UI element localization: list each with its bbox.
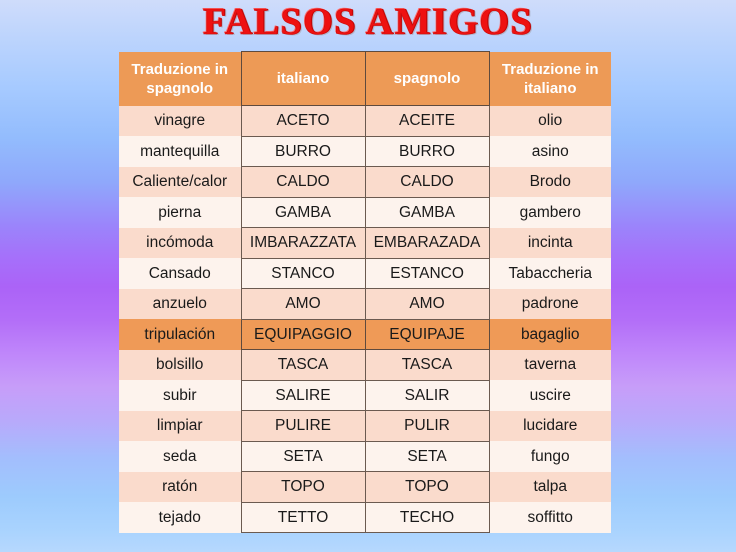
- cell-italiano: BURRO: [241, 136, 365, 167]
- table-row: sedaSETASETAfungo: [119, 441, 611, 472]
- cell-traduzione-spagnolo: Caliente/calor: [119, 167, 241, 198]
- cell-traduzione-spagnolo: tejado: [119, 502, 241, 533]
- cell-traduzione-spagnolo: bolsillo: [119, 350, 241, 381]
- cell-traduzione-italiano: asino: [489, 136, 611, 167]
- cell-italiano: SETA: [241, 441, 365, 472]
- cell-italiano: PULIRE: [241, 411, 365, 442]
- cell-traduzione-italiano: incinta: [489, 228, 611, 259]
- cell-traduzione-spagnolo: pierna: [119, 197, 241, 228]
- table-body: vinagreACETOACEITEoliomantequillaBURROBU…: [119, 106, 611, 533]
- slide-canvas: FALSOS AMIGOS Traduzione in spagnolo ita…: [0, 0, 736, 552]
- cell-spagnolo: CALDO: [365, 167, 489, 198]
- cell-spagnolo: GAMBA: [365, 197, 489, 228]
- table-row: Caliente/calorCALDOCALDOBrodo: [119, 167, 611, 198]
- cell-spagnolo: AMO: [365, 289, 489, 320]
- cell-italiano: IMBARAZZATA: [241, 228, 365, 259]
- cell-italiano: TETTO: [241, 502, 365, 533]
- cell-traduzione-italiano: taverna: [489, 350, 611, 381]
- cell-traduzione-italiano: Tabaccheria: [489, 258, 611, 289]
- cell-traduzione-spagnolo: ratón: [119, 472, 241, 503]
- cell-traduzione-spagnolo: seda: [119, 441, 241, 472]
- cell-spagnolo: TOPO: [365, 472, 489, 503]
- cell-traduzione-italiano: soffitto: [489, 502, 611, 533]
- table-row: vinagreACETOACEITEolio: [119, 106, 611, 137]
- cell-traduzione-italiano: padrone: [489, 289, 611, 320]
- cell-traduzione-spagnolo: incómoda: [119, 228, 241, 259]
- cell-spagnolo: SETA: [365, 441, 489, 472]
- cell-traduzione-italiano: fungo: [489, 441, 611, 472]
- cell-spagnolo: EQUIPAJE: [365, 319, 489, 350]
- cell-spagnolo: EMBARAZADA: [365, 228, 489, 259]
- table-row: anzueloAMOAMOpadrone: [119, 289, 611, 320]
- cell-italiano: EQUIPAGGIO: [241, 319, 365, 350]
- cell-spagnolo: SALIR: [365, 380, 489, 411]
- cell-traduzione-spagnolo: tripulación: [119, 319, 241, 350]
- cell-italiano: GAMBA: [241, 197, 365, 228]
- table-row: bolsilloTASCATASCAtaverna: [119, 350, 611, 381]
- cell-spagnolo: BURRO: [365, 136, 489, 167]
- cell-traduzione-spagnolo: subir: [119, 380, 241, 411]
- cell-traduzione-italiano: olio: [489, 106, 611, 137]
- cell-italiano: ACETO: [241, 106, 365, 137]
- table-row: piernaGAMBAGAMBAgambero: [119, 197, 611, 228]
- column-header-traduzione-italiano: Traduzione in italiano: [489, 52, 611, 106]
- cell-spagnolo: ACEITE: [365, 106, 489, 137]
- cell-traduzione-spagnolo: anzuelo: [119, 289, 241, 320]
- page-title: FALSOS AMIGOS: [203, 2, 533, 42]
- title-container: FALSOS AMIGOS: [0, 2, 736, 42]
- false-friends-table: Traduzione in spagnolo italiano spagnolo…: [119, 51, 611, 533]
- cell-spagnolo: TECHO: [365, 502, 489, 533]
- table-row: subirSALIRESALIRuscire: [119, 380, 611, 411]
- cell-italiano: TASCA: [241, 350, 365, 381]
- table-row: limpiarPULIREPULIRlucidare: [119, 411, 611, 442]
- table-row: CansadoSTANCOESTANCOTabaccheria: [119, 258, 611, 289]
- cell-spagnolo: PULIR: [365, 411, 489, 442]
- cell-traduzione-italiano: bagaglio: [489, 319, 611, 350]
- cell-traduzione-italiano: Brodo: [489, 167, 611, 198]
- table-row: tripulaciónEQUIPAGGIOEQUIPAJEbagaglio: [119, 319, 611, 350]
- cell-traduzione-italiano: talpa: [489, 472, 611, 503]
- cell-italiano: STANCO: [241, 258, 365, 289]
- false-friends-table-container: Traduzione in spagnolo italiano spagnolo…: [119, 51, 611, 533]
- cell-traduzione-spagnolo: Cansado: [119, 258, 241, 289]
- cell-italiano: AMO: [241, 289, 365, 320]
- cell-traduzione-italiano: lucidare: [489, 411, 611, 442]
- table-header-row: Traduzione in spagnolo italiano spagnolo…: [119, 52, 611, 106]
- table-row: mantequillaBURROBURROasino: [119, 136, 611, 167]
- column-header-spagnolo: spagnolo: [365, 52, 489, 106]
- cell-traduzione-spagnolo: vinagre: [119, 106, 241, 137]
- cell-traduzione-italiano: gambero: [489, 197, 611, 228]
- cell-italiano: SALIRE: [241, 380, 365, 411]
- column-header-italiano: italiano: [241, 52, 365, 106]
- table-row: tejadoTETTOTECHOsoffitto: [119, 502, 611, 533]
- cell-traduzione-italiano: uscire: [489, 380, 611, 411]
- cell-spagnolo: ESTANCO: [365, 258, 489, 289]
- cell-spagnolo: TASCA: [365, 350, 489, 381]
- column-header-traduzione-spagnolo: Traduzione in spagnolo: [119, 52, 241, 106]
- cell-traduzione-spagnolo: limpiar: [119, 411, 241, 442]
- table-row: incómodaIMBARAZZATAEMBARAZADAincinta: [119, 228, 611, 259]
- cell-italiano: TOPO: [241, 472, 365, 503]
- cell-traduzione-spagnolo: mantequilla: [119, 136, 241, 167]
- table-header: Traduzione in spagnolo italiano spagnolo…: [119, 52, 611, 106]
- table-row: ratónTOPOTOPOtalpa: [119, 472, 611, 503]
- cell-italiano: CALDO: [241, 167, 365, 198]
